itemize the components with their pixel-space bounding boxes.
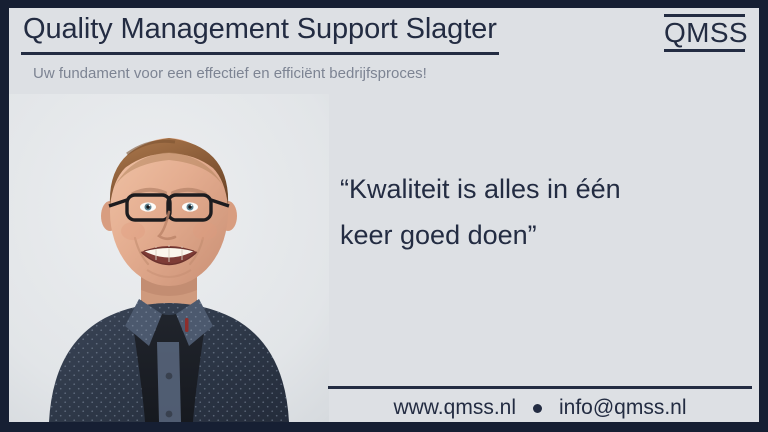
email-link[interactable]: info@qmss.nl — [559, 396, 687, 420]
qmss-logo: QMSS — [664, 14, 748, 52]
qmss-banner: Quality Management Support Slagter Uw fu… — [0, 0, 768, 432]
logo-text: QMSS — [664, 18, 748, 48]
portrait-photo — [9, 94, 329, 422]
banner-panel: Quality Management Support Slagter Uw fu… — [9, 8, 759, 422]
separator-dot-icon — [533, 404, 542, 413]
logo-underline-rule — [664, 49, 745, 52]
footer-divider-rule — [328, 386, 752, 389]
banner-header: Quality Management Support Slagter Uw fu… — [9, 8, 759, 94]
title-underline-rule — [21, 52, 499, 55]
quote-text: “Kwaliteit is alles in één keer goed doe… — [340, 166, 740, 258]
website-link[interactable]: www.qmss.nl — [393, 396, 516, 420]
company-title: Quality Management Support Slagter — [23, 13, 497, 46]
company-tagline: Uw fundament voor een effectief en effic… — [33, 65, 427, 82]
quote-line-1: “Kwaliteit is alles in één — [340, 166, 740, 212]
quote-line-2: keer goed doen” — [340, 212, 740, 258]
footer-contact-bar: www.qmss.nl info@qmss.nl — [328, 396, 752, 420]
